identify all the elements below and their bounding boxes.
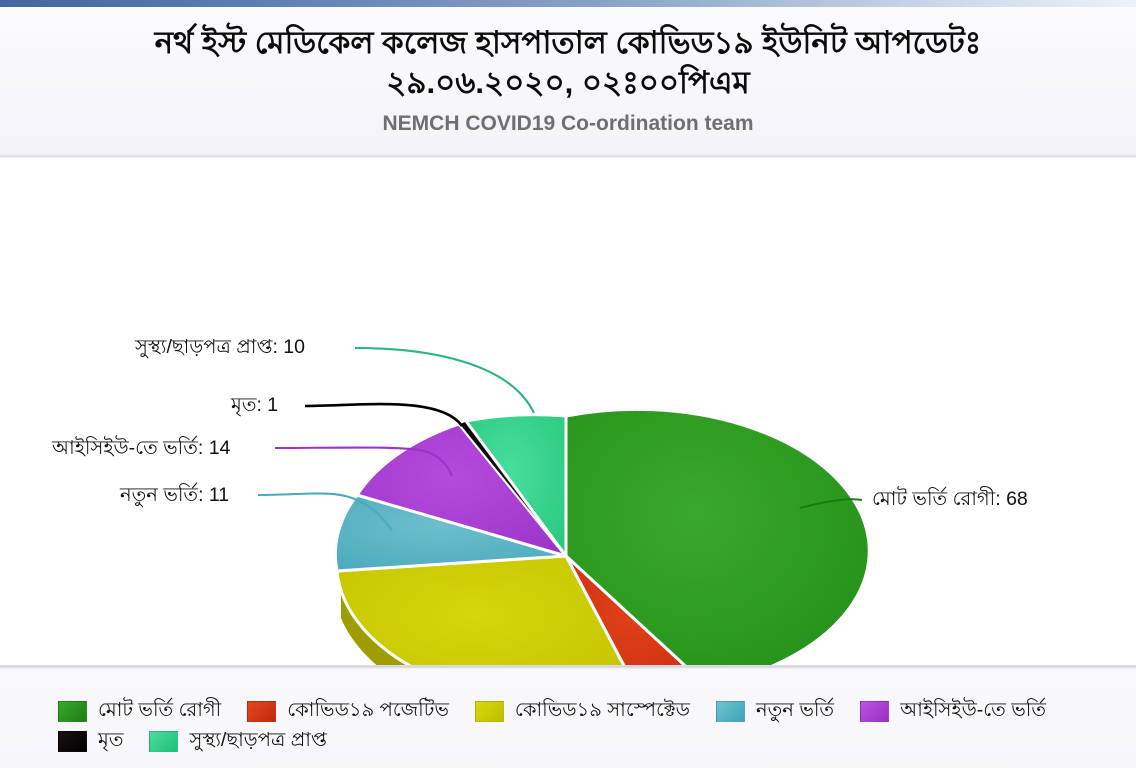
legend-label-icu: আইসিইউ-তে ভর্তি — [900, 701, 1046, 721]
data-label-recovered-text: সুস্থ্য/ছাড়পত্র প্রাপ্ত: 10 — [135, 336, 305, 358]
legend-item-positive[interactable]: কোভিড১৯ পজেটিভ — [247, 696, 449, 726]
pie-chart-svg — [0, 158, 1136, 668]
chart-title-line-2: ২৯.০৬.২০২০, ০২ঃ০০পিএম — [0, 63, 1136, 103]
legend-label-new-admission: নতুন ভর্তি — [756, 701, 834, 721]
legend-label-recovered: সুস্থ্য/ছাড়পত্র প্রাপ্ত — [189, 731, 326, 751]
legend-label-positive: কোভিড১৯ পজেটিভ — [287, 701, 449, 721]
legend-swatch-new-admission — [716, 701, 745, 722]
data-label-dead-text: মৃত: 1 — [231, 394, 278, 416]
legend-swatch-positive — [247, 701, 276, 722]
pie-slices — [335, 409, 869, 668]
data-label-icu: আইসিইউ-তে ভর্তি: 14 — [52, 439, 230, 459]
legend-item-suspected[interactable]: কোভিড১৯ সাস্পেক্টেড — [475, 696, 690, 726]
chart-subtitle: NEMCH COVID19 Co-ordination team — [0, 112, 1136, 136]
page-title: নর্থ ইস্ট মেডিকেল কলেজ হাসপাতাল কোভিড১৯ … — [0, 23, 1136, 102]
legend-label-total-admitted: মোট ভর্তি রোগী — [98, 701, 221, 721]
legend-item-icu[interactable]: আইসিইউ-তে ভর্তি — [860, 696, 1046, 726]
legend-label-dead: মৃত — [98, 731, 123, 751]
chart-title-line-1: নর্থ ইস্ট মেডিকেল কলেজ হাসপাতাল কোভিড১৯ … — [0, 23, 1136, 63]
data-label-dead: মৃত: 1 — [231, 396, 278, 416]
data-label-new-admission-text: নতুন ভর্তি: 11 — [120, 484, 229, 506]
data-label-new-admission: নতুন ভর্তি: 11 — [120, 486, 229, 506]
legend-item-recovered[interactable]: সুস্থ্য/ছাড়পত্র প্রাপ্ত — [149, 726, 326, 756]
legend-items: মোট ভর্তি রোগী কোভিড১৯ পজেটিভ কোভিড১৯ সা… — [58, 696, 1098, 756]
legend-item-new-admission[interactable]: নতুন ভর্তি — [716, 696, 834, 726]
chart-header: নর্থ ইস্ট মেডিকেল কলেজ হাসপাতাল কোভিড১৯ … — [0, 7, 1136, 158]
data-label-total-admitted-text: মোট ভর্তি রোগী: 68 — [872, 488, 1028, 510]
legend-swatch-total-admitted — [58, 701, 87, 722]
legend-item-total-admitted[interactable]: মোট ভর্তি রোগী — [58, 696, 221, 726]
data-label-total-admitted: মোট ভর্তি রোগী: 68 — [872, 490, 1028, 510]
data-label-icu-text: আইসিইউ-তে ভর্তি: 14 — [52, 437, 230, 459]
legend-label-suspected: কোভিড১৯ সাস্পেক্টেড — [515, 701, 690, 721]
data-label-recovered: সুস্থ্য/ছাড়পত্র প্রাপ্ত: 10 — [135, 338, 305, 358]
pie-chart-plot-area: সুস্থ্য/ছাড়পত্র প্রাপ্ত: 10 মৃত: 1 আইসি… — [0, 158, 1136, 668]
legend-swatch-recovered — [149, 731, 178, 752]
chart-page: নর্থ ইস্ট মেডিকেল কলেজ হাসপাতাল কোভিড১৯ … — [0, 0, 1136, 768]
legend-swatch-icu — [860, 701, 889, 722]
legend-swatch-dead — [58, 731, 87, 752]
chart-legend: মোট ভর্তি রোগী কোভিড১৯ পজেটিভ কোভিড১৯ সা… — [0, 669, 1136, 768]
legend-item-dead[interactable]: মৃত — [58, 726, 123, 756]
top-accent-bar — [0, 0, 1136, 7]
leader-line-dead — [305, 404, 462, 426]
legend-swatch-suspected — [475, 701, 504, 722]
